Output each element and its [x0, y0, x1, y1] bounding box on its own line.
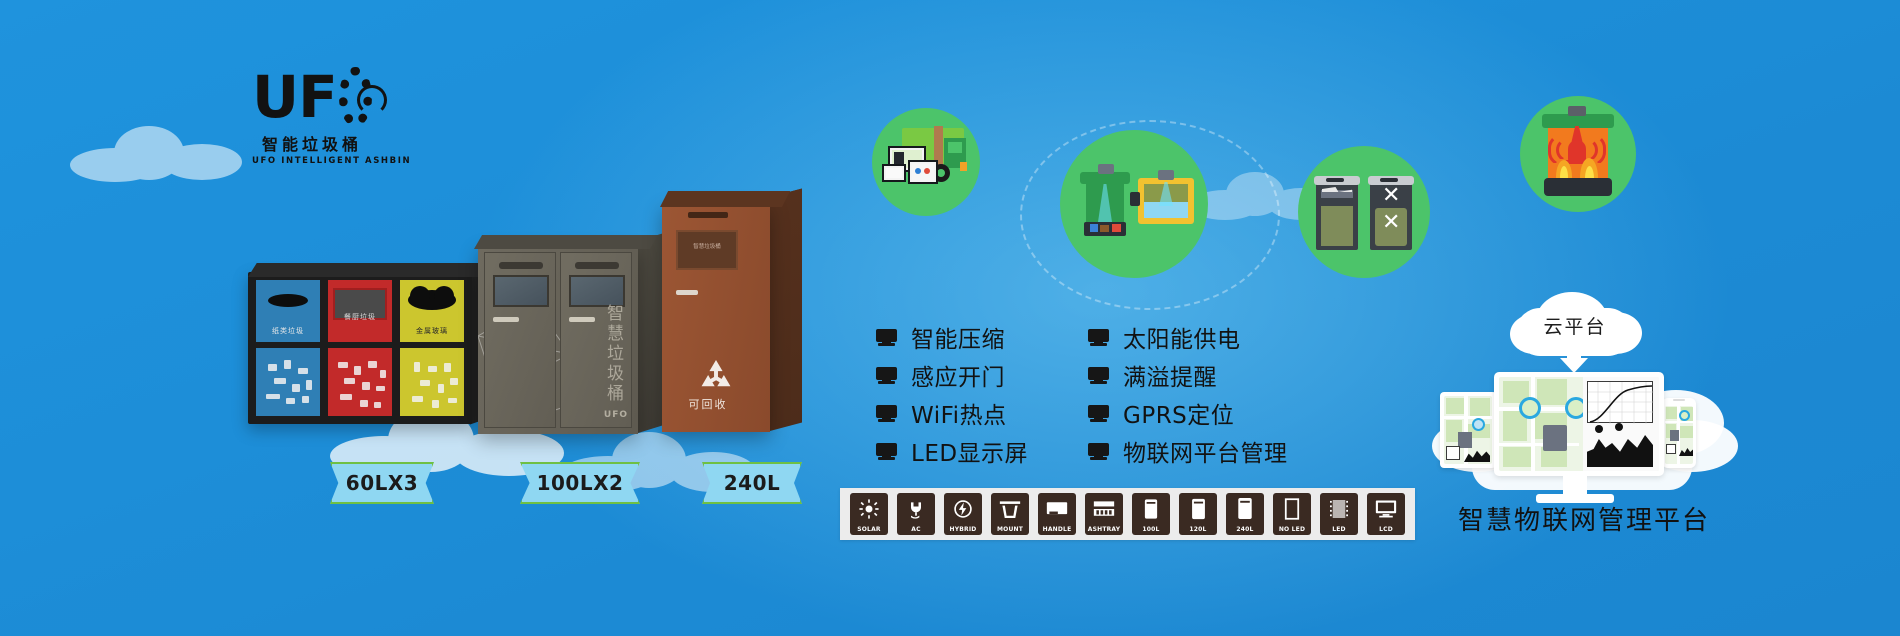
- cloud-decoration: [70, 120, 250, 190]
- waste-slot-icon: [408, 290, 456, 310]
- spec-tile-ac[interactable]: AC: [897, 493, 935, 535]
- bin-compartment-kitchen: 餐厨垃圾: [328, 280, 392, 342]
- plug-icon: [897, 496, 935, 521]
- spec-label: SOLAR: [857, 526, 881, 533]
- line-chart-thumbnail: [1587, 381, 1653, 423]
- monitoring-screen: [882, 164, 906, 182]
- spec-label: HYBRID: [950, 526, 977, 533]
- screen-text-line1: 智慧垃圾桶: [678, 243, 736, 251]
- spec-label: MOUNT: [997, 526, 1023, 533]
- phone-screen: [1665, 406, 1693, 464]
- blank-panel-icon: [1273, 496, 1311, 521]
- spec-icon-strip: SOLAR AC HYBRID: [840, 488, 1415, 540]
- bin-top-panel: [474, 235, 658, 249]
- product-recycling-bin: 智慧垃圾桶 可回收: [662, 204, 770, 432]
- bin-top-panel: [660, 191, 790, 207]
- feature-label: 太阳能供电: [1123, 320, 1241, 354]
- spec-tile-120l[interactable]: 120L: [1179, 493, 1217, 535]
- bin-lower-panel: [400, 348, 464, 416]
- spec-tile-solar[interactable]: SOLAR: [850, 493, 888, 535]
- led-panel-icon: [1320, 496, 1358, 521]
- bin-vertical-text: 智慧垃圾桶: [601, 304, 626, 404]
- bin-handle: [676, 290, 698, 295]
- logo-english-name: UFO INTELLIGENT ASHBIN: [252, 156, 372, 166]
- handle-icon: [1038, 496, 1076, 521]
- monitor-icon: [876, 329, 897, 346]
- bin-lower-panel: [328, 348, 392, 416]
- litter-graphic: [406, 358, 458, 408]
- ashtray-icon: [1085, 496, 1123, 521]
- feature-label: GPRS定位: [1123, 396, 1234, 430]
- feature-item: WiFi热点: [876, 394, 1028, 432]
- monitoring-screen: [908, 160, 938, 184]
- dotted-ring-icon: [339, 67, 372, 127]
- capacity-tag-60lx3: 60LX3: [330, 462, 434, 504]
- lcd-screen-icon: [1367, 496, 1405, 521]
- bin-cap: [575, 262, 619, 269]
- feature-circle-fill-sensor: [1060, 130, 1208, 278]
- tablet-screen: [1444, 396, 1492, 464]
- bin-body: 智慧垃圾桶 可回收: [662, 204, 770, 432]
- monitor-stand: [1563, 476, 1587, 496]
- monitor-icon: [876, 443, 897, 460]
- feature-label: 满溢提醒: [1123, 358, 1217, 392]
- spec-label: ASHTRAY: [1088, 526, 1121, 533]
- logo-wordmark: UF: [252, 68, 337, 126]
- spec-label: 240L: [1236, 526, 1253, 533]
- waste-slot-icon: [268, 294, 308, 307]
- compartment-label: 餐厨垃圾: [328, 312, 392, 322]
- spec-label: NO LED: [1279, 526, 1305, 533]
- spec-label: 100L: [1142, 526, 1159, 533]
- bin-display-screen: [569, 275, 625, 307]
- spec-tile-ashtray[interactable]: ASHTRAY: [1085, 493, 1123, 535]
- capacity-tag-240l: 240L: [702, 462, 802, 504]
- bin-cap: [499, 262, 543, 269]
- feature-item: 智能压缩: [876, 318, 1028, 356]
- cloud-platform-label: 云平台: [1514, 302, 1636, 348]
- spec-label: AC: [911, 526, 920, 533]
- tablet-device: [1440, 392, 1496, 468]
- bin-icon: [1179, 496, 1217, 521]
- spec-tile-hybrid[interactable]: HYBRID: [944, 493, 982, 535]
- spec-label: HANDLE: [1043, 526, 1072, 533]
- bin-label: 可回收: [662, 396, 754, 412]
- bin-icon: [1226, 496, 1264, 521]
- bin-side-panel: [768, 188, 802, 431]
- sun-icon: [850, 496, 888, 521]
- monitor-base: [1536, 494, 1614, 503]
- spec-tile-no-led[interactable]: NO LED: [1273, 493, 1311, 535]
- bin-compartment-paper: 纸类垃圾: [256, 280, 320, 342]
- feature-circle-compaction: ✕ ✕: [1298, 146, 1430, 278]
- bin-cap: [688, 212, 728, 218]
- bin-door-left: [484, 252, 556, 428]
- logo-chinese-name: 智能垃圾桶: [252, 131, 372, 155]
- spec-label: LCD: [1379, 526, 1393, 533]
- compartment-label: 纸类垃圾: [256, 326, 320, 336]
- feature-column-right: 太阳能供电 满溢提醒 GPRS定位 物联网平台管理: [1088, 318, 1288, 470]
- feature-item: 太阳能供电: [1088, 318, 1288, 356]
- monitor-icon: [1088, 367, 1109, 384]
- spec-tile-240l[interactable]: 240L: [1226, 493, 1264, 535]
- desktop-monitor: [1494, 372, 1664, 476]
- feature-label: 感应开门: [911, 358, 1005, 392]
- feature-column-left: 智能压缩 感应开门 WiFi热点 LED显示屏: [876, 318, 1028, 470]
- feature-item: 感应开门: [876, 356, 1028, 394]
- bin-display-screen: [493, 275, 549, 307]
- bin-lower-panel: [256, 348, 320, 416]
- feature-label: 智能压缩: [911, 320, 1005, 354]
- product-triple-bin: 纸类垃圾 餐厨垃圾 金属玻璃: [248, 272, 472, 424]
- brand-logo: UF 智能垃圾桶 UFO INTELLIGENT ASHBIN: [252, 66, 372, 162]
- wall-mount-icon: [991, 496, 1029, 521]
- capacity-tag-100lx2: 100LX2: [520, 462, 640, 504]
- promo-banner: UF 智能垃圾桶 UFO INTELLIGENT ASHBIN 纸类垃圾 餐厨垃…: [0, 0, 1900, 636]
- feature-circle-truck-monitoring: [872, 108, 980, 216]
- platform-title: 智慧物联网管理平台: [1434, 500, 1734, 537]
- bin-top-panel: [248, 263, 495, 277]
- bin-compartment-metal-glass: 金属玻璃: [400, 280, 464, 342]
- feature-item: LED显示屏: [876, 432, 1028, 470]
- product-dual-smart-bin: 智慧垃圾桶 UFO: [478, 246, 638, 434]
- feature-item: GPRS定位: [1088, 394, 1288, 432]
- bin-brand-mark: UFO: [604, 410, 628, 420]
- spec-tile-led[interactable]: LED: [1320, 493, 1358, 535]
- spec-tile-mount[interactable]: MOUNT: [991, 493, 1029, 535]
- monitor-icon: [876, 405, 897, 422]
- feature-label: LED显示屏: [911, 434, 1028, 468]
- bin-icon: [1132, 496, 1170, 521]
- feature-item: 满溢提醒: [1088, 356, 1288, 394]
- bin-handle: [569, 317, 595, 322]
- bin-body: 智慧垃圾桶 UFO: [478, 246, 638, 434]
- spec-label: 120L: [1189, 526, 1206, 533]
- spec-label: LED: [1332, 526, 1346, 533]
- spec-tile-lcd[interactable]: LCD: [1367, 493, 1405, 535]
- spec-tile-100l[interactable]: 100L: [1132, 493, 1170, 535]
- lightning-icon: [944, 496, 982, 521]
- feature-label: WiFi热点: [911, 396, 1007, 430]
- feature-item: 物联网平台管理: [1088, 432, 1288, 470]
- monitor-icon: [876, 367, 897, 384]
- compartment-label: 金属玻璃: [400, 326, 464, 336]
- bin-display-screen: 智慧垃圾桶: [676, 230, 738, 270]
- spec-tile-handle[interactable]: HANDLE: [1038, 493, 1076, 535]
- monitor-screen: [1499, 377, 1659, 471]
- monitor-icon: [1088, 329, 1109, 346]
- litter-graphic: [262, 358, 314, 408]
- feature-label: 物联网平台管理: [1123, 434, 1288, 468]
- bin-handle: [493, 317, 519, 322]
- monitor-icon: [1088, 405, 1109, 422]
- monitor-icon: [1088, 443, 1109, 460]
- feature-circle-fire-alarm: [1520, 96, 1636, 212]
- litter-graphic: [334, 358, 386, 408]
- smartphone-device: [1662, 398, 1696, 468]
